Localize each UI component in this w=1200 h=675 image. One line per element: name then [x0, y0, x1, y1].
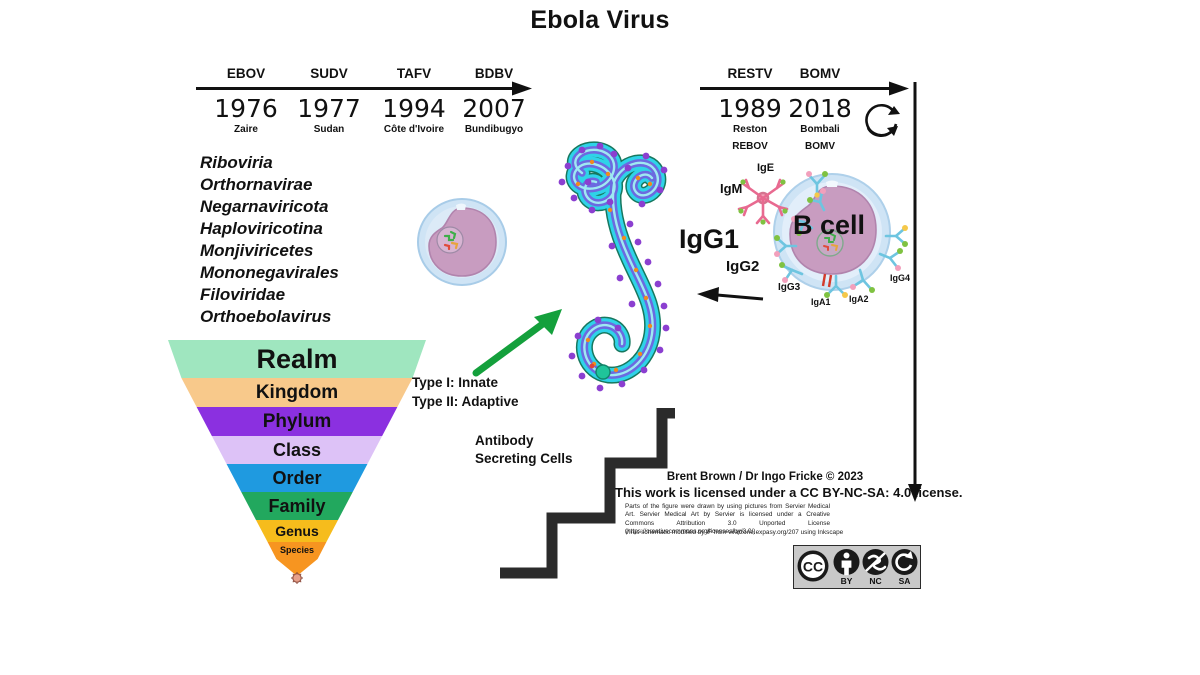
b-cell-label: B cell: [793, 210, 865, 241]
timeline-entry-year: 1977: [284, 94, 374, 123]
pyramid-level-species: Species: [168, 542, 426, 559]
pyramid-level-label: Genus: [275, 524, 319, 538]
left-arrow-icon: [697, 283, 765, 309]
taxonomy-pyramid: Realm Kingdom Phylum Class Order Family …: [168, 340, 426, 580]
taxonomy-rank: Negarnaviricota: [200, 196, 339, 218]
timeline-entry-code: TAFV: [369, 66, 459, 81]
timeline-entry-place: Zaire: [201, 124, 291, 135]
pyramid-level-kingdom: Kingdom: [168, 378, 426, 407]
pyramid-level-order: Order: [168, 464, 426, 492]
taxonomy-rank: Monjiviricetes: [200, 240, 339, 262]
timeline-entry-code: SUDV: [284, 66, 374, 81]
pyramid-level-realm: Realm: [168, 340, 426, 378]
pyramid-level-family: Family: [168, 492, 426, 520]
pyramid-level-genus: Genus: [168, 520, 426, 542]
taxonomy-rank: Haploviricotina: [200, 218, 339, 240]
cc-sa-label: SA: [890, 576, 919, 586]
cc-license-badge[interactable]: CC BY NC SA: [793, 545, 921, 589]
timeline-entry-code: BOMV: [775, 66, 865, 81]
pyramid-level-label: Order: [272, 469, 321, 487]
ebola-virion-icon: [552, 138, 702, 400]
taxonomy-rank: Orthornavirae: [200, 174, 339, 196]
cc-nc-icon: NC: [861, 547, 890, 587]
isotype-label-ige: IgE: [757, 162, 774, 174]
pyramid-level-label: Family: [268, 497, 325, 515]
isotype-label-iga2: IgA2: [849, 294, 869, 304]
isotype-label-igm: IgM: [720, 181, 742, 196]
timeline-entry-year: 1994: [369, 94, 459, 123]
timeline-entry-place: Bundibugyo: [449, 124, 539, 135]
pyramid-level-label: Kingdom: [256, 383, 338, 402]
pyramid-level-label: Class: [273, 441, 321, 459]
taxonomy-rank: Riboviria: [200, 152, 339, 174]
plasma-cell-icon: [412, 196, 512, 288]
timeline-entry-place: Côte d'Ivoire: [369, 124, 459, 135]
timeline-entry-code: EBOV: [201, 66, 291, 81]
type-i-label: Type I: Innate: [412, 373, 498, 392]
timeline-entry-year: 2007: [449, 94, 539, 123]
credit-license: This work is licensed under a CC BY-NC-S…: [615, 485, 915, 500]
timeline-entry-year: 1976: [201, 94, 291, 123]
timeline-left: EBOV 1976 Zaire SUDV 1977 Sudan TAFV 199…: [196, 66, 536, 146]
timeline-entry-year: 2018: [775, 94, 865, 123]
isotype-label-igg2: IgG2: [726, 258, 759, 275]
pyramid-level-label: Phylum: [263, 412, 332, 431]
credit-fineprint-secondary: Virus schematic modified by IF from vira…: [625, 529, 840, 537]
pyramid-level-label: Realm: [256, 346, 337, 373]
taxonomy-rank: Orthoebolavirus: [200, 306, 339, 328]
timeline-right-axis: [700, 87, 895, 90]
pyramid-level-phylum: Phylum: [168, 407, 426, 436]
green-arrow-icon: [470, 305, 570, 380]
cc-nc-label: NC: [861, 576, 890, 586]
taxonomy-list: Riboviria Orthornavirae Negarnaviricota …: [200, 152, 339, 328]
cc-sa-icon: SA: [890, 547, 919, 587]
cc-mark-icon: CC: [794, 547, 832, 587]
isotype-label-igg3: IgG3: [778, 282, 800, 293]
cc-by-icon: BY: [832, 547, 861, 587]
timeline-entry-place: Sudan: [284, 124, 374, 135]
circular-arrow-icon: [858, 98, 904, 142]
timeline-entry-code: BDBV: [449, 66, 539, 81]
page-title: Ebola Virus: [0, 6, 1200, 35]
timeline-entry-place: Bombali: [775, 124, 865, 135]
pyramid-level-label: Species: [280, 546, 314, 555]
taxonomy-rank: Filoviridae: [200, 284, 339, 306]
timeline-left-axis: [196, 87, 518, 90]
pyramid-level-class: Class: [168, 436, 426, 464]
isotype-label-iga1: IgA1: [811, 297, 831, 307]
timeline-entry-alt: BOMV: [775, 141, 865, 152]
cc-by-label: BY: [832, 576, 861, 586]
taxonomy-rank: Mononegavirales: [200, 262, 339, 284]
isotype-label-igg4: IgG4: [890, 273, 910, 283]
virion-tip-icon: [289, 570, 305, 586]
timeline-right: RESTV 1989 Reston REBOV BOMV 2018 Bombal…: [700, 66, 920, 161]
isotype-label-igg1: IgG1: [679, 224, 739, 255]
svg-text:CC: CC: [803, 559, 823, 575]
credit-authors: Brent Brown / Dr Ingo Fricke © 2023: [620, 471, 910, 483]
